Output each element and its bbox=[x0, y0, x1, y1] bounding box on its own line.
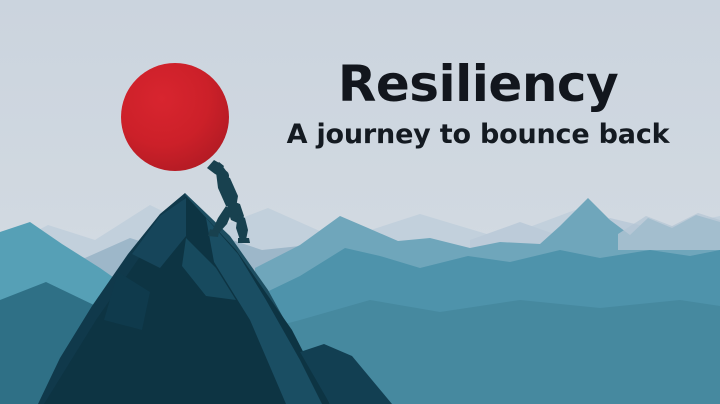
red-boulder-icon bbox=[121, 63, 229, 171]
slide-canvas: Resiliency A journey to bounce back bbox=[0, 0, 720, 404]
mountain-scene-illustration bbox=[0, 0, 720, 404]
